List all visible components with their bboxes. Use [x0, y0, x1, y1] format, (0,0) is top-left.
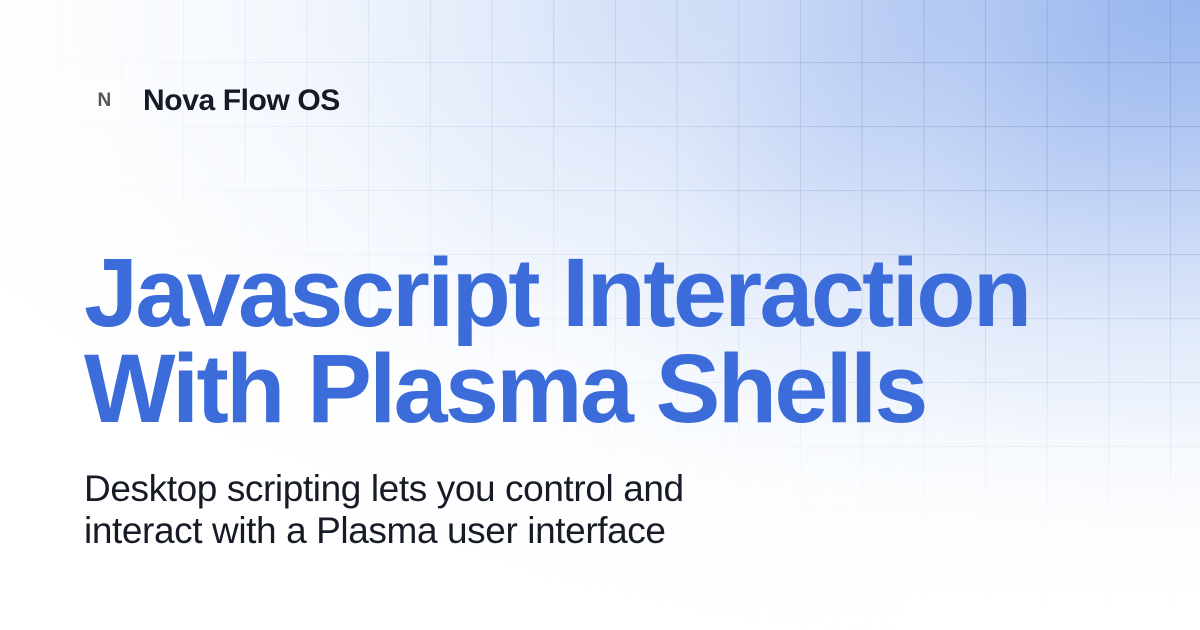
og-card-canvas: N Nova Flow OS Javascript Interaction Wi…	[0, 0, 1200, 630]
page-title-line-1: Javascript Interaction	[84, 245, 1134, 341]
nova-logo-letter: N	[98, 91, 112, 110]
nova-logo-icon: N	[84, 80, 125, 121]
card-content: N Nova Flow OS Javascript Interaction Wi…	[0, 0, 1200, 630]
page-subtitle-line-2: interact with a Plasma user interface	[84, 510, 984, 552]
page-subtitle: Desktop scripting lets you control and i…	[84, 468, 984, 552]
page-title: Javascript Interaction With Plasma Shell…	[84, 245, 1134, 437]
page-subtitle-line-1: Desktop scripting lets you control and	[84, 468, 984, 510]
page-title-line-2: With Plasma Shells	[84, 341, 1134, 437]
brand-name: Nova Flow OS	[143, 86, 340, 116]
brand-lockup: N Nova Flow OS	[84, 80, 340, 121]
